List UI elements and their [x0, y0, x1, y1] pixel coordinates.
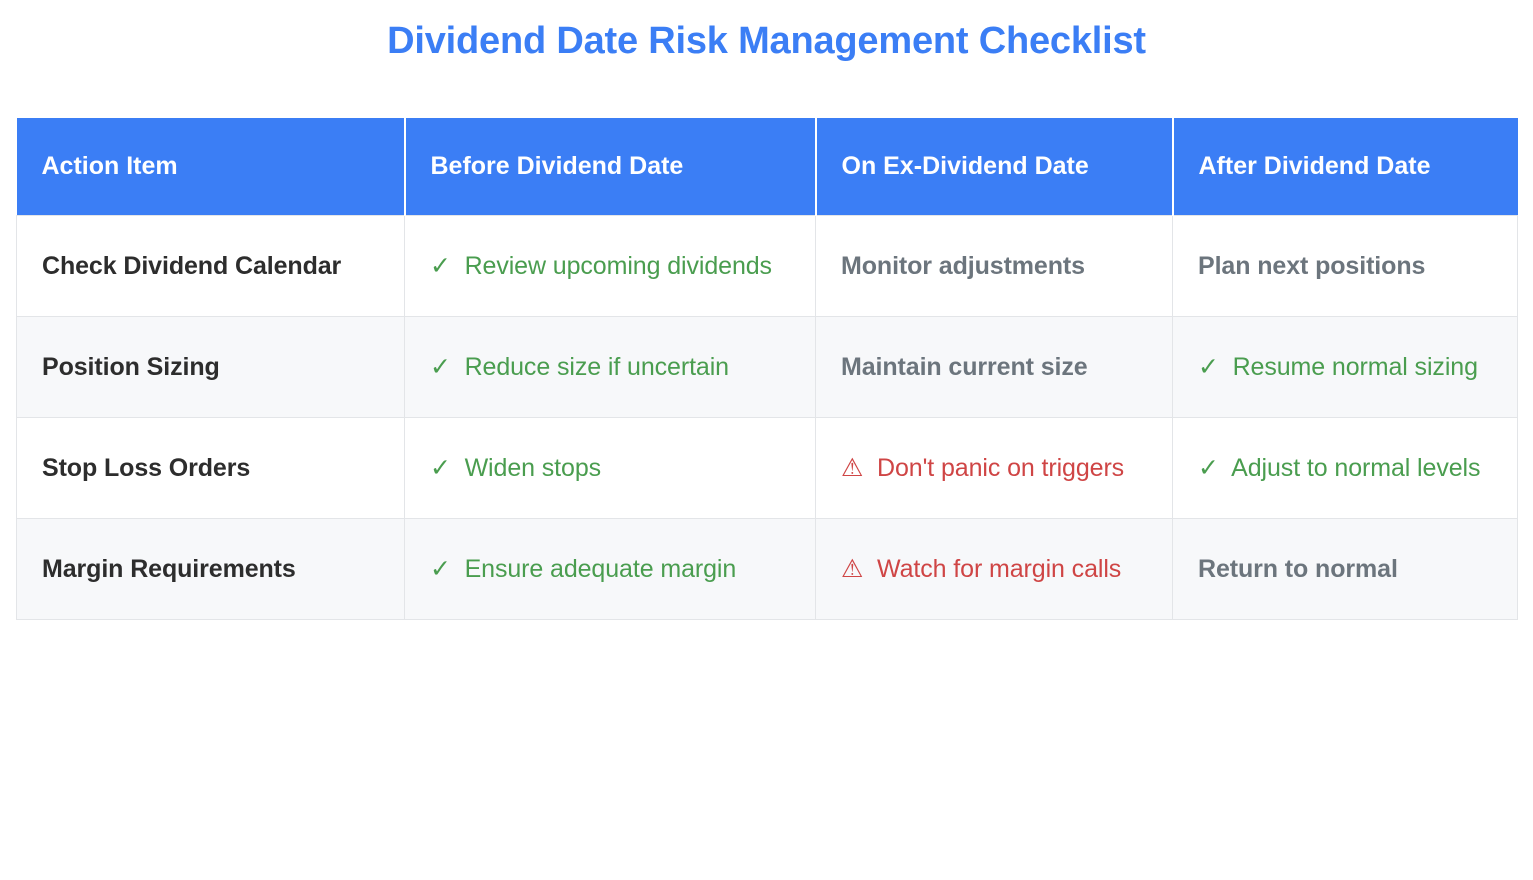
cell-after-dividend-date: Plan next positions: [1173, 215, 1518, 316]
cell-text: Widen stops: [465, 454, 601, 482]
check-icon: ✓: [1198, 454, 1226, 482]
cell-text: Don't panic on triggers: [877, 454, 1124, 482]
cell-text: Ensure adequate margin: [465, 555, 737, 583]
risk-management-checklist-table: Action Item Before Dividend Date On Ex-D…: [16, 118, 1518, 620]
check-icon: ✓: [1198, 353, 1226, 381]
page-title: Dividend Date Risk Management Checklist: [0, 0, 1533, 64]
cell-action-item: Margin Requirements: [17, 518, 405, 619]
table-row: Position Sizing ✓ Reduce size if uncerta…: [17, 316, 1518, 417]
check-icon: ✓: [430, 555, 458, 583]
table-row: Check Dividend Calendar ✓ Review upcomin…: [17, 215, 1518, 316]
cell-before-dividend-date: ✓ Widen stops: [405, 417, 816, 518]
cell-text: Plan next positions: [1198, 252, 1425, 280]
cell-action-item: Position Sizing: [17, 316, 405, 417]
checklist-table-container: Action Item Before Dividend Date On Ex-D…: [16, 118, 1517, 620]
cell-on-ex-dividend-date: Monitor adjustments: [816, 215, 1173, 316]
cell-before-dividend-date: ✓ Ensure adequate margin: [405, 518, 816, 619]
table-header: Action Item Before Dividend Date On Ex-D…: [17, 118, 1518, 215]
column-header-after-dividend-date: After Dividend Date: [1173, 118, 1518, 215]
cell-text: Monitor adjustments: [841, 252, 1085, 280]
cell-text: Review upcoming dividends: [465, 252, 772, 280]
cell-on-ex-dividend-date: ⚠ Watch for margin calls: [816, 518, 1173, 619]
cell-before-dividend-date: ✓ Review upcoming dividends: [405, 215, 816, 316]
table-header-row: Action Item Before Dividend Date On Ex-D…: [17, 118, 1518, 215]
check-icon: ✓: [430, 353, 458, 381]
cell-on-ex-dividend-date: Maintain current size: [816, 316, 1173, 417]
cell-text: Adjust to normal levels: [1231, 454, 1480, 482]
cell-after-dividend-date: ✓ Adjust to normal levels: [1173, 417, 1518, 518]
column-header-before-dividend-date: Before Dividend Date: [405, 118, 816, 215]
cell-action-item: Stop Loss Orders: [17, 417, 405, 518]
warning-icon: ⚠: [841, 555, 870, 583]
warning-icon: ⚠: [841, 454, 870, 482]
check-icon: ✓: [430, 454, 458, 482]
checklist-page: Dividend Date Risk Management Checklist …: [0, 0, 1533, 880]
cell-text: Watch for margin calls: [877, 555, 1121, 583]
cell-before-dividend-date: ✓ Reduce size if uncertain: [405, 316, 816, 417]
cell-text: Maintain current size: [841, 353, 1088, 381]
table-row: Margin Requirements ✓ Ensure adequate ma…: [17, 518, 1518, 619]
cell-after-dividend-date: Return to normal: [1173, 518, 1518, 619]
table-body: Check Dividend Calendar ✓ Review upcomin…: [17, 215, 1518, 619]
cell-text: Reduce size if uncertain: [465, 353, 729, 381]
cell-text: Resume normal sizing: [1233, 353, 1478, 381]
column-header-action-item: Action Item: [17, 118, 405, 215]
cell-text: Return to normal: [1198, 555, 1398, 583]
cell-on-ex-dividend-date: ⚠ Don't panic on triggers: [816, 417, 1173, 518]
table-row: Stop Loss Orders ✓ Widen stops ⚠ Don't p…: [17, 417, 1518, 518]
cell-action-item: Check Dividend Calendar: [17, 215, 405, 316]
column-header-on-ex-dividend-date: On Ex-Dividend Date: [816, 118, 1173, 215]
cell-after-dividend-date: ✓ Resume normal sizing: [1173, 316, 1518, 417]
check-icon: ✓: [430, 252, 458, 280]
